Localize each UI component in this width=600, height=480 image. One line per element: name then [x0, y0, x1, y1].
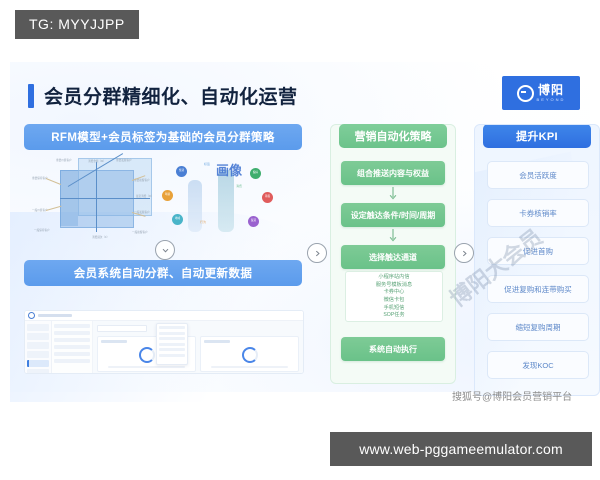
dropdown-option[interactable] — [159, 348, 185, 351]
logo-mark-icon — [517, 85, 534, 102]
dashboard-submenu-item[interactable] — [54, 324, 90, 328]
card-footer-placeholder — [108, 366, 186, 368]
rfm-cube-diagram: 消费金额（M） 消费频次（F） 最近消费（R） 重要价值客户 重要发展客户 重要… — [32, 158, 162, 242]
credit-text: 搜狐号@博阳会员营销平台 — [452, 388, 572, 403]
cube-label-1: 消费频次（F） — [92, 235, 109, 239]
mid-step-3: 系统自动执行 — [341, 337, 445, 361]
tag-dot-4: 等级 — [262, 192, 273, 203]
kpi-item-3: 促进复购和连带购买 — [487, 275, 589, 303]
dashboard-main — [93, 321, 303, 374]
dashboard-submenu — [52, 321, 93, 374]
cloud-word: 标签 — [204, 162, 210, 166]
mid-step-1: 设定触达条件/时间/周期 — [341, 203, 445, 227]
cube-label-10: 一般挽留客户 — [132, 230, 148, 234]
dropdown-option[interactable] — [159, 337, 185, 340]
dashboard-nav-item[interactable] — [27, 342, 49, 349]
kpi-item-5: 发现KOC — [487, 351, 589, 379]
middle-column: 营销自动化策略 组合推送内容与权益 设定触达条件/时间/周期 选择触达通道 小程… — [330, 124, 456, 384]
dashboard-title-placeholder — [38, 314, 72, 317]
title-text: 会员分群精细化、自动化运营 — [44, 82, 298, 109]
wordcloud-headline: 画像 — [216, 164, 242, 177]
chevron-right-circle-icon-1[interactable] — [307, 243, 327, 263]
member-profile-illustration: 画像 性别 年龄 地域 偏好 等级 渠道 标签 消费 行为 — [164, 154, 300, 246]
left-top-bar: RFM模型+会员标签为基础的会员分群策略 — [24, 124, 302, 150]
dashboard-body — [25, 321, 303, 374]
logo-en-text: BEYOND — [537, 98, 566, 102]
dropdown-option[interactable] — [159, 326, 185, 329]
chevron-down-icon[interactable] — [155, 240, 175, 260]
channel-item-5: SOP任务 — [383, 312, 404, 320]
dropdown-option[interactable] — [159, 354, 185, 357]
right-column: 提升KPI 会员活跃度 卡券核销率 促进首购 促进复购和连带购买 缩短复购周期 … — [474, 124, 600, 396]
person-silhouette-left — [188, 180, 202, 232]
dashboard-dropdown-popup[interactable] — [156, 323, 188, 365]
kpi-item-0: 会员活跃度 — [487, 161, 589, 189]
dashboard-nav-item-active[interactable] — [27, 360, 49, 367]
cube-axis-x — [60, 198, 150, 199]
cube-label-2: 最近消费（R） — [136, 194, 153, 198]
logo-cn-text: 博阳 — [538, 84, 564, 96]
dashboard-stat-card — [200, 336, 299, 372]
channel-list: 小程序站内信 服务号模板消息 卡券中心 微信卡包 手机短信 SOP任务 — [345, 271, 443, 322]
screenshot-canvas: 会员分群精细化、自动化运营 博阳 BEYOND RFM模型+会员标签为基础的会员… — [0, 0, 600, 480]
right-column-header: 提升KPI — [483, 124, 591, 148]
url-watermark-bar: www.web-pggameemulator.com — [330, 432, 592, 466]
dashboard-submenu-item[interactable] — [54, 352, 90, 356]
url-text: www.web-pggameemulator.com — [359, 441, 563, 457]
cube-label-0: 消费金额（M） — [88, 159, 106, 163]
left-column: RFM模型+会员标签为基础的会员分群策略 消费金额（M） 消费频次（F） 最近消… — [24, 124, 302, 372]
arrow-down-icon-2 — [389, 229, 397, 243]
dashboard-submenu-item[interactable] — [54, 345, 90, 349]
channel-item-3: 微信卡包 — [384, 297, 405, 305]
dashboard-submenu-item[interactable] — [54, 331, 90, 335]
tag-dot-1: 年龄 — [162, 190, 173, 201]
arrow-down-icon-1 — [389, 187, 397, 201]
tag-dot-3: 偏好 — [250, 168, 261, 179]
channel-item-4: 手机短信 — [384, 305, 405, 313]
tg-watermark-badge: TG: MYYJJPP — [15, 10, 139, 39]
channel-item-2: 卡券中心 — [384, 289, 405, 297]
dashboard-submenu-item[interactable] — [54, 338, 90, 342]
page-title: 会员分群精细化、自动化运营 — [28, 82, 298, 109]
dashboard-submenu-item[interactable] — [54, 359, 90, 363]
dashboard-nav-item[interactable] — [27, 351, 49, 358]
member-system-dashboard-screenshot — [24, 310, 304, 374]
card-heading-placeholder — [101, 340, 127, 343]
cube-label-4: 重要发展客户 — [116, 158, 132, 162]
dashboard-sidebar — [25, 321, 52, 374]
person-silhouette-right — [218, 170, 234, 232]
dashboard-logo-icon — [28, 312, 35, 319]
mid-step-2: 选择触达通道 — [341, 245, 445, 269]
cloud-word: 行为 — [200, 220, 206, 224]
middle-column-header: 营销自动化策略 — [339, 124, 447, 148]
card-gauge-icon — [139, 347, 155, 363]
tag-dot-5: 渠道 — [248, 216, 259, 227]
dashboard-nav-item[interactable] — [27, 369, 49, 374]
channel-item-0: 小程序站内信 — [378, 274, 409, 282]
dashboard-nav-item[interactable] — [27, 324, 49, 331]
cloud-word: 消费 — [236, 184, 242, 188]
cube-label-3: 重要价值客户 — [56, 158, 72, 162]
tag-dot-0: 性别 — [176, 166, 187, 177]
title-accent-bar — [28, 84, 34, 108]
kpi-item-1: 卡券核销率 — [487, 199, 589, 227]
tag-dot-2: 地域 — [172, 214, 183, 225]
cube-leader-line — [46, 178, 61, 185]
cube-axis-y — [96, 162, 97, 232]
card-gauge-icon — [242, 347, 258, 363]
dashboard-nav-item[interactable] — [27, 333, 49, 340]
brand-logo: 博阳 BEYOND — [502, 76, 580, 110]
logo-wordmark: 博阳 BEYOND — [537, 84, 566, 102]
chevron-right-circle-icon-2[interactable] — [454, 243, 474, 263]
dropdown-option[interactable] — [159, 332, 185, 335]
kpi-item-2: 促进首购 — [487, 237, 589, 265]
cube-label-9: 一般保持客户 — [34, 228, 50, 232]
kpi-item-4: 缩短复购周期 — [487, 313, 589, 341]
left-illustration: 消费金额（M） 消费频次（F） 最近消费（R） 重要价值客户 重要发展客户 重要… — [24, 154, 302, 246]
dropdown-option[interactable] — [159, 343, 185, 346]
dashboard-card-row — [97, 336, 299, 372]
infographic-slide: 会员分群精细化、自动化运营 博阳 BEYOND RFM模型+会员标签为基础的会员… — [10, 62, 590, 392]
card-footer-placeholder — [211, 366, 289, 368]
card-heading-placeholder — [204, 340, 230, 343]
dashboard-search-input[interactable] — [97, 325, 147, 332]
mid-step-0: 组合推送内容与权益 — [341, 161, 445, 185]
left-bottom-bar: 会员系统自动分群、自动更新数据 — [24, 260, 302, 286]
dashboard-topbar — [25, 311, 303, 321]
